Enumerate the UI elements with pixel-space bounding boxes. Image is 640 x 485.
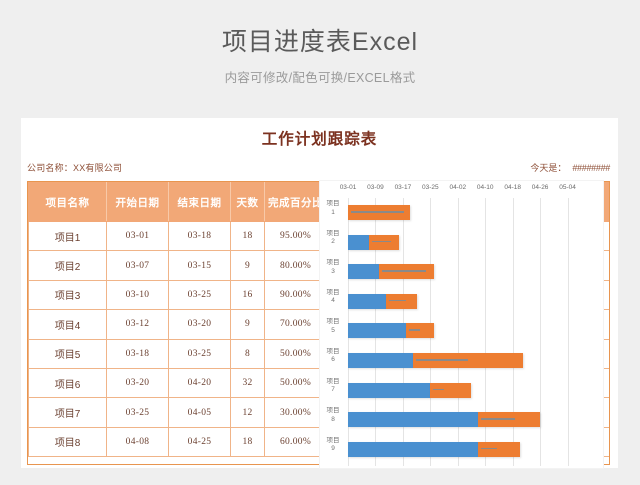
gantt-progress-line bbox=[372, 241, 392, 243]
cell-days[interactable]: 18 bbox=[231, 427, 265, 456]
page-subtitle: 内容可修改/配色可换/EXCEL格式 bbox=[0, 69, 640, 87]
gantt-axis-tick: 03-25 bbox=[422, 184, 439, 191]
gantt-row-label: 项目2 bbox=[321, 230, 345, 247]
gantt-row[interactable]: 项目9 bbox=[348, 435, 595, 465]
sheet-title: 工作计划跟踪表 bbox=[21, 118, 618, 149]
cell-percent[interactable]: 50.00% bbox=[265, 368, 327, 397]
gantt-bar-track bbox=[348, 353, 595, 368]
column-header-start[interactable]: 开始日期 bbox=[107, 183, 169, 222]
cell-percent[interactable]: 70.00% bbox=[265, 310, 327, 339]
gantt-axis-tick: 04-18 bbox=[504, 184, 521, 191]
cell-end-date[interactable]: 04-25 bbox=[169, 427, 231, 456]
gantt-bar-offset[interactable] bbox=[348, 323, 406, 338]
gantt-axis-tick: 05-04 bbox=[559, 184, 576, 191]
gantt-progress-line bbox=[433, 389, 444, 391]
cell-days[interactable]: 9 bbox=[231, 310, 265, 339]
cell-end-date[interactable]: 04-20 bbox=[169, 368, 231, 397]
cell-end-date[interactable]: 03-18 bbox=[169, 222, 231, 251]
gantt-axis: 03-0103-0903-1703-2504-0204-1004-1804-26… bbox=[348, 181, 595, 198]
gantt-row-label: 项目1 bbox=[321, 200, 345, 217]
gantt-row-label: 项目3 bbox=[321, 259, 345, 276]
gantt-progress-line bbox=[389, 300, 406, 302]
column-header-days[interactable]: 天数 bbox=[231, 183, 265, 222]
gantt-axis-tick: 03-09 bbox=[367, 184, 384, 191]
gantt-axis-tick: 03-17 bbox=[395, 184, 412, 191]
column-header-pct[interactable]: 完成百分比 bbox=[265, 183, 327, 222]
gantt-bar-track bbox=[348, 323, 595, 338]
gantt-bar-track bbox=[348, 442, 595, 457]
gantt-chart[interactable]: 03-0103-0903-1703-2504-0204-1004-1804-26… bbox=[320, 181, 603, 468]
today-label: 今天是： bbox=[530, 163, 566, 173]
cell-days[interactable]: 16 bbox=[231, 280, 265, 309]
gantt-row-label: 项目9 bbox=[321, 437, 345, 454]
gantt-plot-area: 项目1项目2项目3项目4项目5项目6项目7项目8项目9 bbox=[348, 198, 595, 466]
gantt-progress-line bbox=[382, 270, 426, 272]
gantt-bar-track bbox=[348, 264, 595, 279]
cell-days[interactable]: 8 bbox=[231, 339, 265, 368]
gantt-row[interactable]: 项目3 bbox=[348, 257, 595, 287]
cell-end-date[interactable]: 03-25 bbox=[169, 339, 231, 368]
gantt-axis-tick: 04-10 bbox=[477, 184, 494, 191]
gantt-row[interactable]: 项目8 bbox=[348, 405, 595, 435]
gantt-row-label: 项目7 bbox=[321, 378, 345, 395]
gantt-row-label: 项目6 bbox=[321, 348, 345, 365]
cell-start-date[interactable]: 03-18 bbox=[107, 339, 169, 368]
cell-days[interactable]: 9 bbox=[231, 251, 265, 280]
cell-percent[interactable]: 30.00% bbox=[265, 398, 327, 427]
cell-start-date[interactable]: 04-08 bbox=[107, 427, 169, 456]
cell-start-date[interactable]: 03-25 bbox=[107, 398, 169, 427]
cell-end-date[interactable]: 03-20 bbox=[169, 310, 231, 339]
gantt-bar-offset[interactable] bbox=[348, 235, 369, 250]
cell-start-date[interactable]: 03-20 bbox=[107, 368, 169, 397]
gantt-bar-offset[interactable] bbox=[348, 294, 386, 309]
cell-end-date[interactable]: 03-25 bbox=[169, 280, 231, 309]
page-banner: 项目进度表Excel 内容可修改/配色可换/EXCEL格式 bbox=[0, 0, 640, 87]
cell-project-name[interactable]: 项目4 bbox=[29, 310, 107, 339]
sheet-meta-row: 公司名称：XX有限公司 今天是：######## bbox=[21, 157, 618, 179]
today-value: ######## bbox=[572, 163, 610, 173]
gantt-bar-track bbox=[348, 383, 595, 398]
cell-percent[interactable]: 95.00% bbox=[265, 222, 327, 251]
cell-end-date[interactable]: 04-05 bbox=[169, 398, 231, 427]
gantt-progress-line bbox=[416, 359, 468, 361]
column-header-name[interactable]: 项目名称 bbox=[29, 183, 107, 222]
gantt-progress-line bbox=[481, 448, 497, 450]
cell-project-name[interactable]: 项目7 bbox=[29, 398, 107, 427]
gantt-bar-offset[interactable] bbox=[348, 353, 413, 368]
gantt-bar-offset[interactable] bbox=[348, 383, 430, 398]
gantt-row[interactable]: 项目2 bbox=[348, 228, 595, 258]
gantt-bar-offset[interactable] bbox=[348, 442, 478, 457]
gantt-row[interactable]: 项目6 bbox=[348, 346, 595, 376]
gantt-axis-tick: 04-26 bbox=[532, 184, 549, 191]
gantt-bar-track bbox=[348, 294, 595, 309]
cell-project-name[interactable]: 项目2 bbox=[29, 251, 107, 280]
cell-project-name[interactable]: 项目8 bbox=[29, 427, 107, 456]
today-field: 今天是：######## bbox=[530, 161, 610, 174]
gantt-bar-offset[interactable] bbox=[348, 264, 379, 279]
page-title: 项目进度表Excel bbox=[0, 26, 640, 58]
gantt-progress-line bbox=[351, 211, 404, 213]
gantt-row[interactable]: 项目1 bbox=[348, 198, 595, 228]
gantt-row-label: 项目4 bbox=[321, 289, 345, 306]
cell-project-name[interactable]: 项目3 bbox=[29, 280, 107, 309]
gantt-progress-line bbox=[481, 418, 514, 420]
cell-percent[interactable]: 50.00% bbox=[265, 339, 327, 368]
gantt-bar-offset[interactable] bbox=[348, 412, 478, 427]
gantt-row[interactable]: 项目4 bbox=[348, 287, 595, 317]
gantt-row[interactable]: 项目5 bbox=[348, 316, 595, 346]
company-name-label: 公司名称：XX有限公司 bbox=[27, 161, 122, 174]
cell-percent[interactable]: 90.00% bbox=[265, 280, 327, 309]
gantt-axis-tick: 04-02 bbox=[449, 184, 466, 191]
cell-start-date[interactable]: 03-01 bbox=[107, 222, 169, 251]
column-header-end[interactable]: 结束日期 bbox=[169, 183, 231, 222]
gantt-bar-track bbox=[348, 205, 595, 220]
gantt-row-label: 项目5 bbox=[321, 318, 345, 335]
cell-days[interactable]: 32 bbox=[231, 368, 265, 397]
cell-project-name[interactable]: 项目1 bbox=[29, 222, 107, 251]
cell-start-date[interactable]: 03-12 bbox=[107, 310, 169, 339]
cell-percent[interactable]: 60.00% bbox=[265, 427, 327, 456]
gantt-bar-track bbox=[348, 235, 595, 250]
cell-percent[interactable]: 80.00% bbox=[265, 251, 327, 280]
gantt-row-label: 项目8 bbox=[321, 407, 345, 424]
cell-start-date[interactable]: 03-10 bbox=[107, 280, 169, 309]
cell-project-name[interactable]: 项目5 bbox=[29, 339, 107, 368]
cell-start-date[interactable]: 03-07 bbox=[107, 251, 169, 280]
gantt-bar-track bbox=[348, 412, 595, 427]
gantt-progress-line bbox=[409, 329, 420, 331]
gantt-row[interactable]: 项目7 bbox=[348, 376, 595, 406]
cell-end-date[interactable]: 03-15 bbox=[169, 251, 231, 280]
cell-days[interactable]: 12 bbox=[231, 398, 265, 427]
gantt-axis-tick: 03-01 bbox=[340, 184, 357, 191]
cell-days[interactable]: 18 bbox=[231, 222, 265, 251]
cell-project-name[interactable]: 项目6 bbox=[29, 368, 107, 397]
